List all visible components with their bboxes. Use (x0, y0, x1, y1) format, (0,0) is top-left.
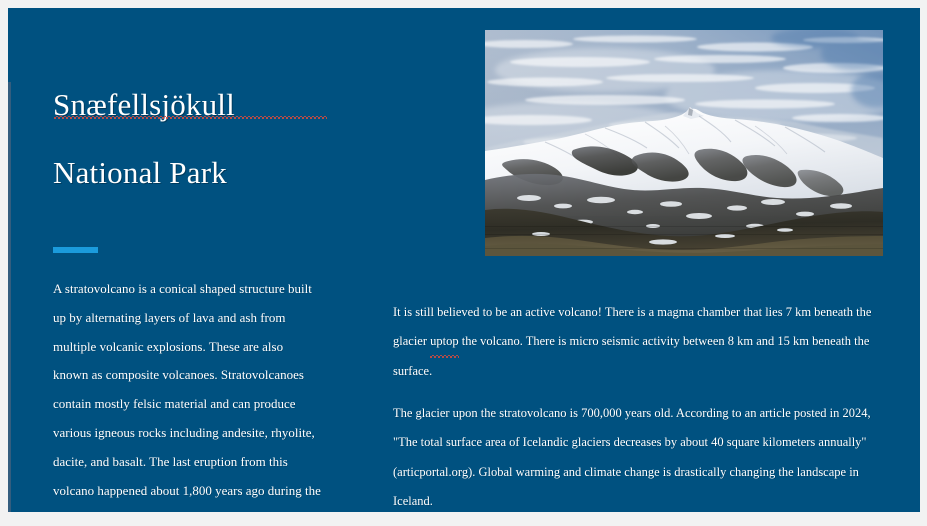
left-content-column: Snæfellsjökull National Park A stratovol… (53, 54, 353, 512)
presentation-slide[interactable]: Snæfellsjökull National Park A stratovol… (8, 8, 920, 512)
right-paragraph-1: It is still believed to be an active vol… (393, 298, 893, 387)
volcano-photo-frame[interactable] (485, 30, 883, 256)
misspelled-word-uptop: uptop (430, 327, 458, 357)
right-content-column: It is still believed to be an active vol… (393, 285, 893, 512)
title-line-1: Snæfellsjökull (53, 88, 353, 122)
right-paragraph-1-part-b: the volcano. There is micro seismic acti… (393, 334, 869, 378)
slide-canvas: Snæfellsjökull National Park A stratovol… (0, 0, 927, 526)
title-line-2: National Park (53, 156, 353, 190)
volcano-photo (485, 30, 883, 256)
title-accent-bar (53, 247, 98, 253)
slide-left-rail (8, 82, 11, 512)
right-paragraph-2: The glacier upon the stratovolcano is 70… (393, 399, 893, 513)
left-body-paragraph: A stratovolcano is a conical shaped stru… (53, 275, 321, 512)
page-title: Snæfellsjökull National Park (53, 54, 353, 224)
